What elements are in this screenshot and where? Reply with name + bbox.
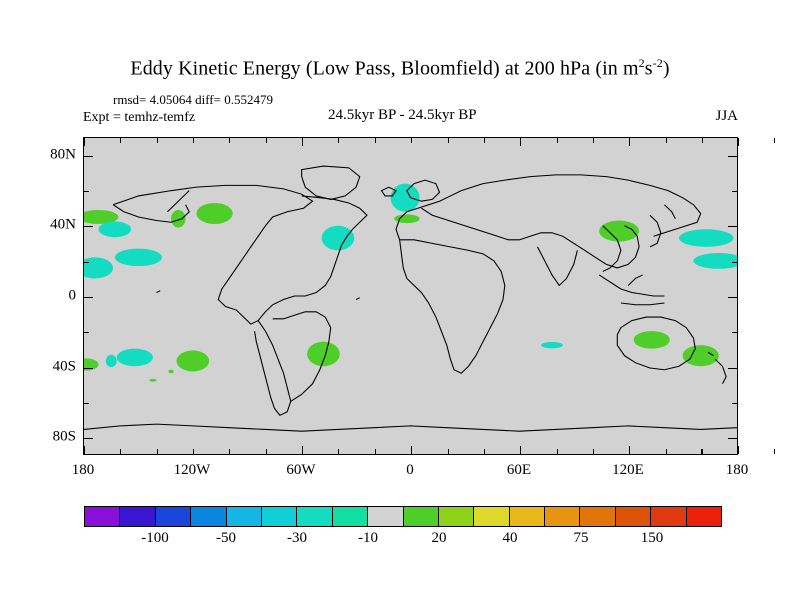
colorbar-segment-12: [510, 507, 545, 526]
region-australia-green: [634, 331, 670, 349]
x-tick-minor: [448, 449, 449, 454]
x-tick-major-60w: [520, 446, 521, 454]
region-france-green: [394, 214, 419, 223]
y-tick-right-major: [728, 297, 737, 298]
y-tick-major-40n: [84, 226, 93, 227]
y-axis-label-40s: 40S: [30, 359, 76, 376]
x-tick-minor: [266, 449, 267, 454]
y-axis-label-80s: 80S: [30, 429, 76, 446]
x-tick-top-minor: [193, 138, 194, 143]
x-tick-major-120e: [738, 446, 739, 454]
x-tick-top-minor: [266, 138, 267, 143]
y-axis-label-0: 0: [30, 288, 76, 305]
y-tick-minor: [84, 403, 89, 404]
x-tick-minor: [593, 449, 594, 454]
colorbar-segment-3: [191, 507, 226, 526]
season-annotation: JJA: [715, 108, 738, 125]
x-tick-top-minor: [702, 138, 703, 143]
y-tick-minor: [84, 262, 89, 263]
y-tick-major-80s: [84, 438, 93, 439]
y-tick-right-major: [728, 368, 737, 369]
region-indian-ocean-cyan: [541, 342, 563, 348]
y-tick-right-major: [728, 438, 737, 439]
x-tick-major-120w: [302, 446, 303, 454]
colorbar-label-4: 20: [432, 530, 447, 547]
colorbar-segment-14: [580, 507, 615, 526]
title-main: Eddy Kinetic Energy (Low Pass, Bloomfiel…: [130, 58, 638, 80]
region-northwest-pacific-cyan: [679, 229, 733, 247]
region-south-pacific-green: [177, 350, 210, 371]
x-tick-minor: [157, 449, 158, 454]
region-british-isles-cyan: [391, 184, 420, 212]
region-speck-south-pacific: [149, 379, 156, 382]
x-tick-minor: [666, 449, 667, 454]
colorbar-segment-11: [474, 507, 509, 526]
colorbar-label-0: -100: [141, 530, 169, 547]
x-tick-minor: [557, 449, 558, 454]
x-tick-top-major: [629, 138, 630, 146]
colorbar-label-7: 150: [641, 530, 664, 547]
x-axis-label-0: 180: [72, 462, 95, 479]
x-tick-top-major: [738, 138, 739, 146]
x-axis-label-5: 120E: [612, 462, 644, 479]
x-tick-top-minor: [557, 138, 558, 143]
y-tick-major-40s: [84, 368, 93, 369]
y-tick-right-minor: [732, 332, 737, 333]
colorbar-segment-5: [262, 507, 297, 526]
x-tick-top-major: [520, 138, 521, 146]
x-tick-top-minor: [774, 138, 775, 143]
rmsd-annotation: rmsd= 4.05064 diff= 0.552479: [113, 92, 273, 108]
x-tick-top-minor: [338, 138, 339, 143]
colorbar-segment-17: [687, 507, 721, 526]
region-south-pacific-cyan: [117, 349, 153, 367]
x-tick-top-minor: [120, 138, 121, 143]
x-tick-top-major: [84, 138, 85, 146]
colorbar: [84, 506, 722, 527]
region-north-atlantic-cyan: [322, 226, 355, 251]
colorbar-segment-8: [368, 507, 403, 526]
region-north-america-green: [196, 203, 232, 224]
experiment-annotation: Expt = temhz-temfz: [83, 110, 195, 126]
y-axis-label-40n: 40N: [30, 217, 76, 234]
x-tick-top-minor: [593, 138, 594, 143]
region-north-pacific-cyan-1: [99, 221, 132, 237]
colorbar-segment-0: [85, 507, 120, 526]
x-axis-label-3: 0: [406, 462, 414, 479]
region-south-atlantic-green: [307, 342, 340, 367]
x-tick-minor: [375, 449, 376, 454]
x-tick-top-major: [302, 138, 303, 146]
colorbar-segment-4: [227, 507, 262, 526]
x-tick-minor: [701, 449, 702, 454]
y-tick-right-minor: [732, 191, 737, 192]
x-tick-top-minor: [229, 138, 230, 143]
x-tick-top-minor: [157, 138, 158, 143]
x-axis-label-6: 180: [726, 462, 749, 479]
region-south-pacific-small-cyan: [106, 355, 117, 367]
colorbar-segment-2: [156, 507, 191, 526]
colorbar-label-1: -50: [216, 530, 236, 547]
x-tick-major-180w: [84, 446, 85, 454]
y-tick-right-major: [728, 156, 737, 157]
y-tick-right-minor: [732, 403, 737, 404]
x-tick-minor: [774, 449, 775, 454]
title-mid: s: [645, 58, 653, 80]
y-tick-minor: [84, 191, 89, 192]
x-tick-major-60e: [629, 446, 630, 454]
x-tick-major-180e: [737, 446, 738, 454]
colorbar-label-6: 75: [574, 530, 589, 547]
x-tick-minor: [120, 449, 121, 454]
x-tick-minor: [702, 449, 703, 454]
colorbar-label-2: -30: [287, 530, 307, 547]
y-tick-right-minor: [732, 262, 737, 263]
x-tick-minor: [338, 449, 339, 454]
colorbar-label-3: -10: [358, 530, 378, 547]
x-axis-label-2: 60W: [286, 462, 315, 479]
colorbar-segment-7: [333, 507, 368, 526]
y-tick-major-80n: [84, 156, 93, 157]
colorbar-segment-15: [616, 507, 651, 526]
x-axis-label-1: 120W: [174, 462, 211, 479]
colorbar-segment-9: [404, 507, 439, 526]
x-tick-top-minor: [484, 138, 485, 143]
y-axis-label-80n: 80N: [30, 147, 76, 164]
region-tasman-sea-green: [683, 345, 719, 366]
colorbar-segment-13: [545, 507, 580, 526]
colorbar-segment-1: [120, 507, 155, 526]
region-north-pacific-cyan-3: [84, 257, 113, 278]
colorbar-segment-6: [297, 507, 332, 526]
x-tick-top-minor: [666, 138, 667, 143]
y-tick-right-major: [728, 226, 737, 227]
region-north-pacific-cyan-2: [115, 249, 162, 267]
x-tick-top-minor: [375, 138, 376, 143]
world-map: [84, 138, 737, 454]
x-tick-top-minor: [448, 138, 449, 143]
x-tick-top-minor: [411, 138, 412, 143]
title-tail: ): [663, 58, 670, 80]
colorbar-segment-16: [651, 507, 686, 526]
period-annotation: 24.5kyr BP - 24.5kyr BP: [328, 107, 477, 124]
y-tick-minor: [84, 332, 89, 333]
title-exp-2: -2: [653, 56, 663, 70]
map-plot-area: [83, 137, 738, 455]
x-tick-minor: [229, 449, 230, 454]
x-tick-minor: [193, 449, 194, 454]
region-gulf-alaska-green: [171, 210, 186, 228]
page-title: Eddy Kinetic Energy (Low Pass, Bloomfiel…: [0, 56, 800, 81]
colorbar-label-5: 40: [503, 530, 518, 547]
region-west-pacific-cyan: [693, 253, 737, 269]
region-speck-mid-pacific: [168, 370, 173, 374]
x-tick-minor: [484, 449, 485, 454]
colorbar-segment-10: [439, 507, 474, 526]
y-tick-major-0: [84, 297, 93, 298]
x-tick-major-0: [411, 446, 412, 454]
x-axis-label-4: 60E: [507, 462, 531, 479]
